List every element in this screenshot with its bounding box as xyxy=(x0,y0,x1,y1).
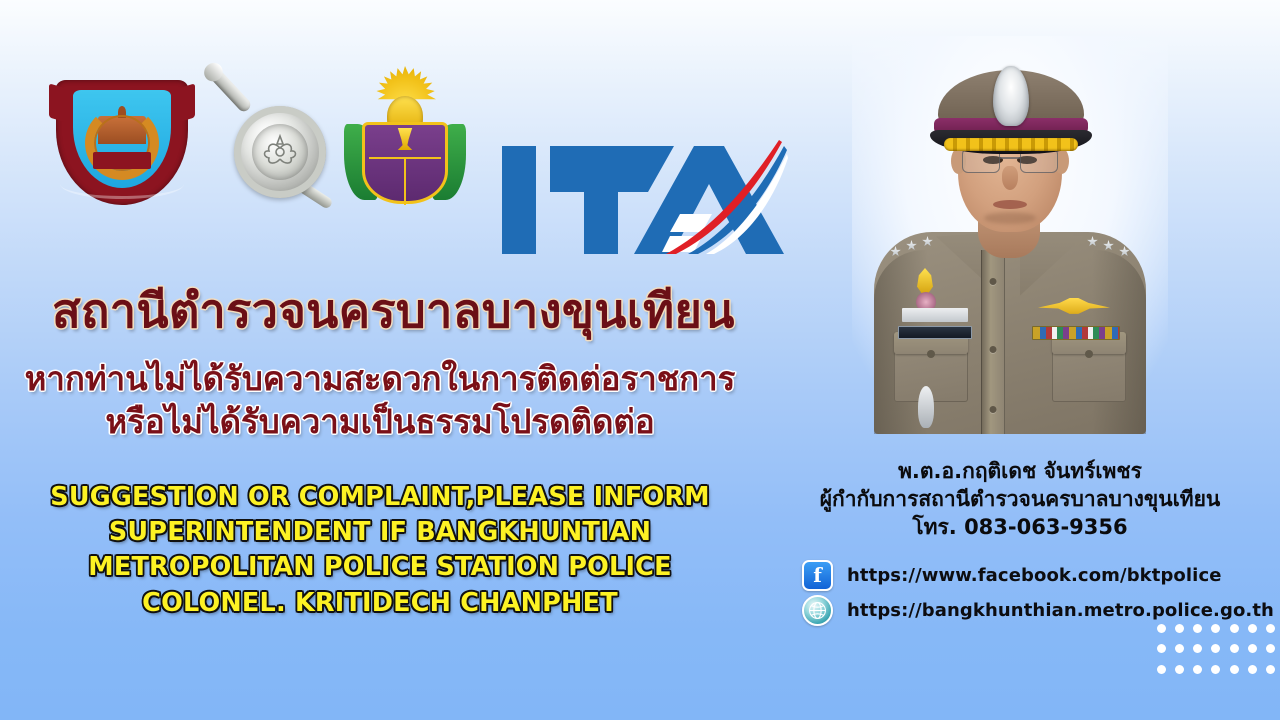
shirt-placket xyxy=(981,250,1005,434)
dot xyxy=(1266,644,1275,653)
officer-title: ผู้กำกับการสถานีตำรวจนครบาลบางขุนเทียน xyxy=(760,486,1280,514)
officer-portrait-photo xyxy=(852,36,1168,434)
shirt-button xyxy=(990,406,997,413)
shirt-pocket-right xyxy=(1052,336,1126,402)
dot xyxy=(1175,624,1184,633)
uniform-pin xyxy=(918,386,934,428)
english-notice: SUGGESTION OR COMPLAINT,PLEASE INFORM SU… xyxy=(0,480,760,621)
medallion-handle xyxy=(205,64,253,114)
chin-shadow xyxy=(984,212,1036,224)
ita-logo xyxy=(498,136,788,268)
dot xyxy=(1248,665,1257,674)
page-title: สถานีตำรวจนครบาลบางขุนเทียน xyxy=(52,286,735,339)
facebook-url[interactable]: https://www.facebook.com/bktpolice xyxy=(847,565,1222,586)
dot xyxy=(1230,665,1239,674)
officer-phone: โทร. 083-063-9356 xyxy=(760,514,1280,542)
dot xyxy=(1157,665,1166,674)
english-notice-line-1: SUGGESTION OR COMPLAINT,PLEASE INFORM xyxy=(0,480,760,515)
english-notice-line-3: METROPOLITAN POLICE STATION POLICE xyxy=(0,550,760,585)
facebook-link-row[interactable]: f https://www.facebook.com/bktpolice xyxy=(802,558,1272,593)
dot xyxy=(1193,665,1202,674)
dot xyxy=(1266,665,1275,674)
globe-glyph xyxy=(808,601,827,620)
dot xyxy=(1266,624,1275,633)
decorative-dot-grid xyxy=(1152,618,1280,680)
silver-name-plate xyxy=(902,308,968,322)
uniform-name-tag xyxy=(898,326,972,339)
service-ribbon-bar xyxy=(1032,326,1120,340)
cap-badge-icon xyxy=(993,66,1029,126)
dot xyxy=(1175,644,1184,653)
mouth xyxy=(993,200,1027,209)
royal-thai-police-purple-crest-emblem xyxy=(346,66,464,206)
medallion-disc xyxy=(234,106,326,198)
thai-subheading-line-2: หรือไม่ได้รับความเป็นธรรมโปรดติดต่อ xyxy=(0,401,760,444)
dot xyxy=(1248,624,1257,633)
dot xyxy=(1157,624,1166,633)
dot xyxy=(1157,644,1166,653)
facebook-letter: f xyxy=(804,563,831,588)
english-notice-line-4: COLONEL. KRITIDECH CHANPHET xyxy=(0,586,760,621)
shirt-button xyxy=(990,346,997,353)
police-peaked-cap xyxy=(928,70,1094,162)
thai-subheading-line-1: หากท่านไม่ได้รับความสะดวกในการติดต่อราชก… xyxy=(0,358,760,401)
bangkhuntian-police-station-shield-emblem xyxy=(56,80,188,205)
emblem-arc-text xyxy=(60,169,184,199)
dot xyxy=(1193,644,1202,653)
globe-icon[interactable] xyxy=(802,595,833,626)
officer-details: พ.ต.อ.กฤติเดช จันทร์เพชร ผู้กำกับการสถาน… xyxy=(760,458,1280,542)
dot xyxy=(1230,644,1239,653)
floral-motif-icon xyxy=(259,131,301,173)
dot xyxy=(1248,644,1257,653)
officer-name: พ.ต.อ.กฤติเดช จันทร์เพชร xyxy=(760,458,1280,486)
cap-gold-leaf-trim xyxy=(944,138,1078,151)
royal-silver-medallion-emblem xyxy=(208,58,328,218)
poster-canvas: สถานีตำรวจนครบาลบางขุนเทียน หากท่านไม่ได… xyxy=(0,0,1280,720)
dot xyxy=(1175,665,1184,674)
emblem-thai-band xyxy=(93,152,151,169)
english-notice-line-2: SUPERINTENDENT IF BANGKHUNTIAN xyxy=(0,515,760,550)
dot xyxy=(1230,624,1239,633)
dot xyxy=(1211,624,1220,633)
dot xyxy=(1211,644,1220,653)
dot xyxy=(1193,624,1202,633)
facebook-icon[interactable]: f xyxy=(802,560,833,591)
dot xyxy=(1211,665,1220,674)
shirt-button xyxy=(990,278,997,285)
emblem-row xyxy=(46,58,746,218)
thai-subheading: หากท่านไม่ได้รับความสะดวกในการติดต่อราชก… xyxy=(0,358,760,444)
